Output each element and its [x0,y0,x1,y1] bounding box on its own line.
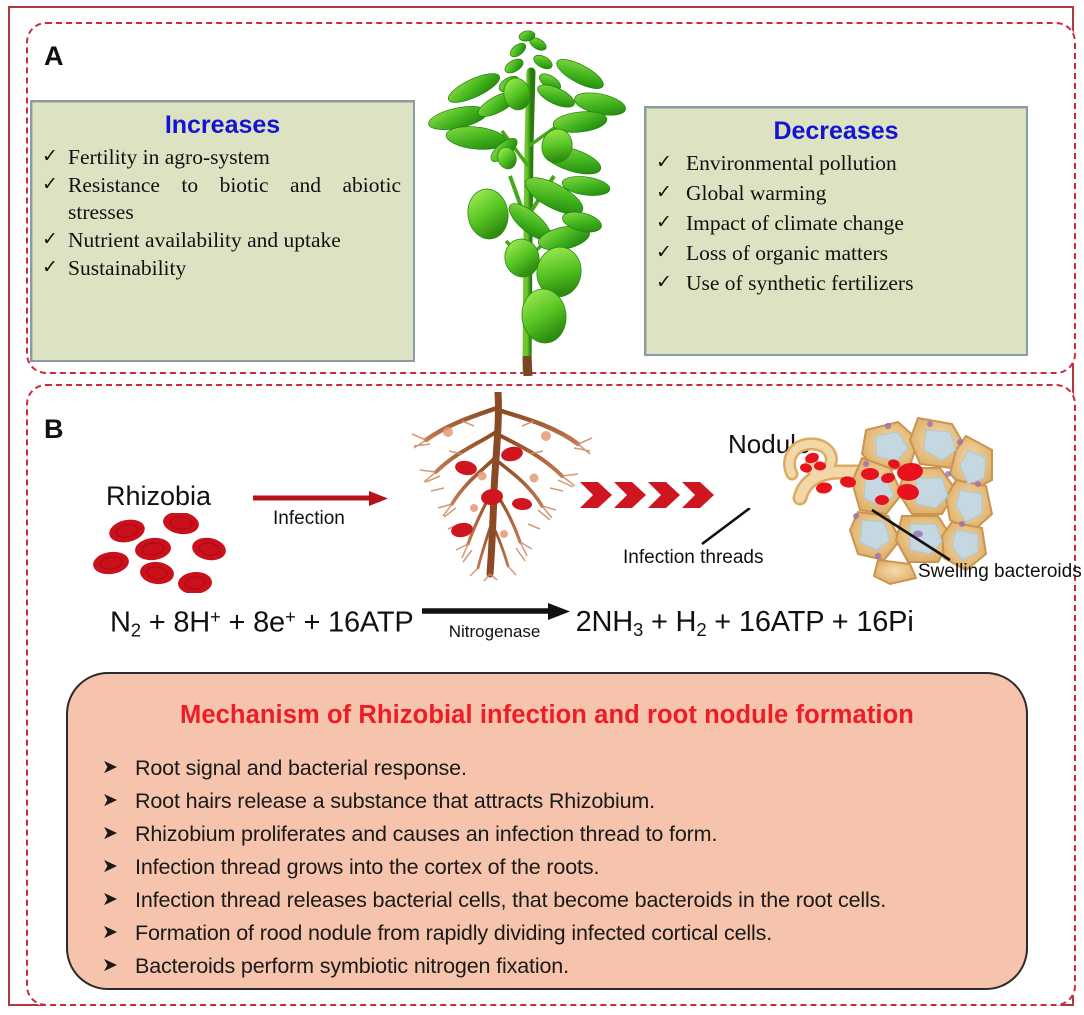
increases-title: Increases [32,111,413,140]
mechanism-item-text: Rhizobium proliferates and causes an inf… [135,824,717,846]
list-item: ✓Loss of organic matters [656,240,1014,267]
increases-item-text: Sustainability [68,255,401,282]
infection-threads-label: Infection threads [623,547,763,569]
increases-box: Increases ✓Fertility in agro-system ✓Res… [30,100,415,362]
increases-item-text: Nutrient availability and uptake [68,227,401,254]
equation-right-side: 2NH3 + H2 + 16ATP + 16Pi [576,606,914,641]
list-item: ➤Rhizobium proliferates and causes an in… [102,824,1026,846]
panel-a-letter: A [44,41,64,72]
check-mark-icon: ✓ [656,270,686,295]
figure-outer-frame: A Increases ✓Fertility in agro-system ✓R… [8,6,1074,1006]
list-item: ✓Nutrient availability and uptake [42,227,401,254]
list-item: ✓Global warming [656,180,1014,207]
list-item: ➤Infection thread grows into the cortex … [102,857,1026,879]
list-item: ✓Resistance to biotic and abiotic stress… [42,172,401,226]
panel-b-letter: B [44,414,64,445]
decreases-item-text: Impact of climate change [686,210,1014,237]
list-item: ✓Impact of climate change [656,210,1014,237]
check-mark-icon: ✓ [656,150,686,175]
decreases-item-text: Loss of organic matters [686,240,1014,267]
rhizobia-cell-cluster [85,513,250,593]
nitrogenase-label: Nitrogenase [420,622,570,642]
list-item: ✓Use of synthetic fertilizers [656,270,1014,297]
list-item: ✓Environmental pollution [656,150,1014,177]
check-mark-icon: ✓ [656,180,686,205]
list-item: ➤Formation of rood nodule from rapidly d… [102,923,1026,945]
check-mark-icon: ✓ [42,172,68,197]
right-triangle-icon: ➤ [102,956,135,976]
right-triangle-icon: ➤ [102,824,135,844]
mechanism-item-text: Infection thread grows into the cortex o… [135,857,599,879]
nodule-cells-illustration [770,406,1000,586]
progression-chevrons-icon [580,478,715,512]
mechanism-item-text: Root signal and bacterial response. [135,758,467,780]
infection-label: Infection [273,508,345,530]
decreases-item-text: Environmental pollution [686,150,1014,177]
mechanism-item-text: Bacteroids perform symbiotic nitrogen fi… [135,956,569,978]
mechanism-list: ➤Root signal and bacterial response. ➤Ro… [68,758,1026,978]
right-triangle-icon: ➤ [102,857,135,877]
decreases-list: ✓Environmental pollution ✓Global warming… [646,150,1026,297]
right-triangle-icon: ➤ [102,791,135,811]
nitrogenase-arrow-icon: Nitrogenase [420,602,570,646]
increases-item-text: Fertility in agro-system [68,144,401,171]
infection-arrow-icon [253,491,388,507]
mechanism-item-text: Infection thread releases bacterial cell… [135,890,886,912]
decreases-box: Decreases ✓Environmental pollution ✓Glob… [644,106,1028,356]
list-item: ✓Fertility in agro-system [42,144,401,171]
increases-list: ✓Fertility in agro-system ✓Resistance to… [32,144,413,282]
mechanism-box: Mechanism of Rhizobial infection and roo… [66,672,1028,990]
list-item: ➤Infection thread releases bacterial cel… [102,890,1026,912]
equation-left-side: N2 + 8H+ + 8e+ + 16ATP [110,606,414,642]
check-mark-icon: ✓ [656,210,686,235]
right-triangle-icon: ➤ [102,758,135,778]
list-item: ➤Root signal and bacterial response. [102,758,1026,780]
legume-plant-illustration [414,26,646,376]
check-mark-icon: ✓ [42,144,68,169]
check-mark-icon: ✓ [42,227,68,252]
right-triangle-icon: ➤ [102,923,135,943]
right-triangle-icon: ➤ [102,890,135,910]
list-item: ➤Root hairs release a substance that att… [102,791,1026,813]
nitrogen-fixation-equation: N2 + 8H+ + 8e+ + 16ATP Nitrogenase 2NH3 … [110,596,994,652]
decreases-item-text: Use of synthetic fertilizers [686,270,1014,297]
mechanism-item-text: Formation of rood nodule from rapidly di… [135,923,772,945]
decreases-item-text: Global warming [686,180,1014,207]
list-item: ✓Sustainability [42,255,401,282]
check-mark-icon: ✓ [656,240,686,265]
increases-item-text: Resistance to biotic and abiotic stresse… [68,172,401,226]
decreases-title: Decreases [646,117,1026,146]
swelling-bacteroids-label: Swelling bacteroids [918,561,1082,583]
rhizobia-label: Rhizobia [106,481,211,512]
list-item: ➤Bacteroids perform symbiotic nitrogen f… [102,956,1026,978]
mechanism-item-text: Root hairs release a substance that attr… [135,791,655,813]
mechanism-title: Mechanism of Rhizobial infection and roo… [68,701,1026,730]
check-mark-icon: ✓ [42,255,68,280]
